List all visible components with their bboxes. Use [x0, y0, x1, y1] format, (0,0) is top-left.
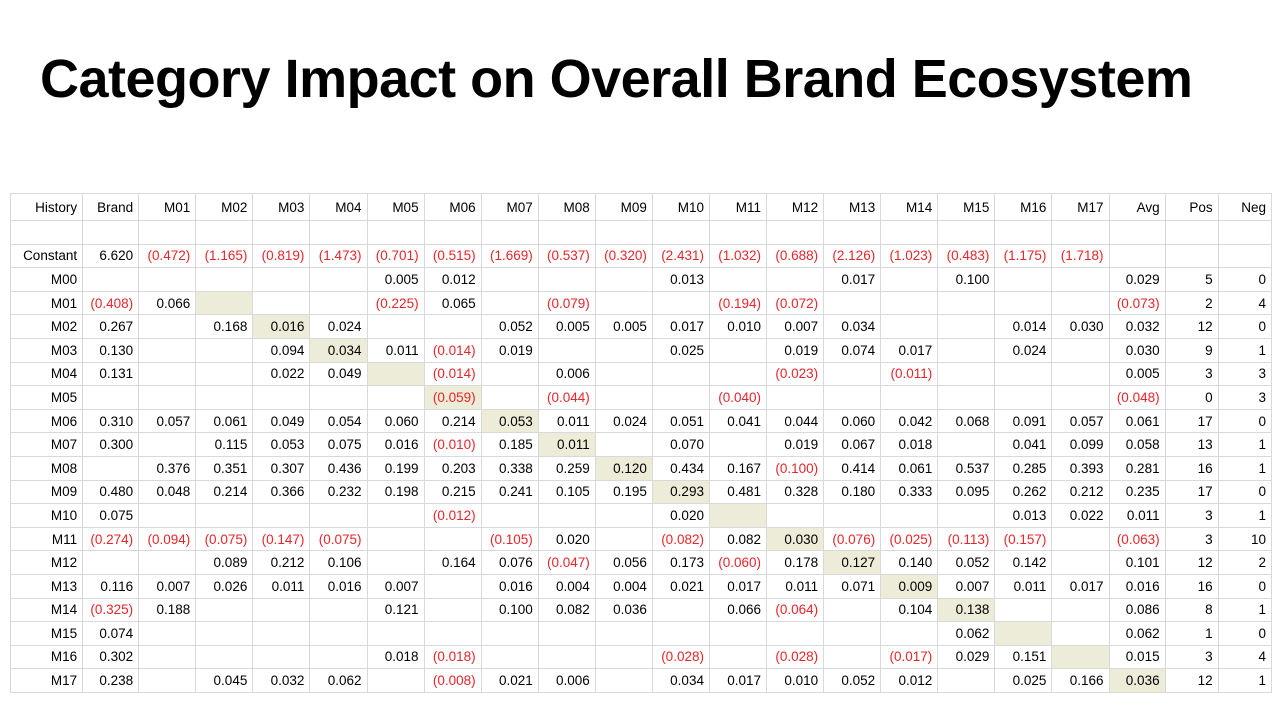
cell-m01-m05: (0.225)	[367, 291, 424, 315]
cell-m01-m14	[881, 291, 938, 315]
cell-m10-m07	[481, 504, 538, 528]
cell-m10-m15	[938, 504, 995, 528]
cell-m10-avg: 0.011	[1109, 504, 1165, 528]
table-row: M01(0.408)0.066 (0.225)0.065 (0.079) (0.…	[11, 291, 1272, 315]
row-label-m13: M13	[11, 574, 83, 598]
cell-m11-m04: (0.075)	[310, 527, 367, 551]
cell-m11-pos: 3	[1165, 527, 1218, 551]
cell-m12-brand	[83, 551, 139, 575]
cell-m11-m02: (0.075)	[196, 527, 253, 551]
cell-constant-m12: (0.688)	[767, 244, 824, 268]
column-header-m13: M13	[824, 194, 881, 221]
cell-m04-m04: 0.049	[310, 362, 367, 386]
cell-m02-m17: 0.030	[1052, 315, 1109, 339]
cell-m09-m04: 0.232	[310, 480, 367, 504]
cell-m00-m05: 0.005	[367, 268, 424, 292]
cell-m03-brand: 0.130	[83, 338, 139, 362]
cell-m04-m10	[652, 362, 709, 386]
cell-constant-m14: (1.023)	[881, 244, 938, 268]
cell-m17-m11: 0.017	[709, 669, 766, 693]
cell-m10-m10: 0.020	[652, 504, 709, 528]
cell-m02-m11: 0.010	[709, 315, 766, 339]
cell-m02-m06	[424, 315, 481, 339]
column-header-m11: M11	[709, 194, 766, 221]
table-row: M040.131 0.0220.049 (0.014) 0.006 (0.023…	[11, 362, 1272, 386]
cell-m16-m12: (0.028)	[767, 645, 824, 669]
cell-m17-m08: 0.006	[538, 669, 595, 693]
cell-m07-m10: 0.070	[652, 433, 709, 457]
cell-m06-m10: 0.051	[652, 409, 709, 433]
cell-m11-m01: (0.094)	[139, 527, 196, 551]
column-header-m12: M12	[767, 194, 824, 221]
cell-m10-m13	[824, 504, 881, 528]
table-row: M12 0.0890.2120.106 0.1640.076(0.047)0.0…	[11, 551, 1272, 575]
row-label-m01: M01	[11, 291, 83, 315]
cell-m12-m16: 0.142	[995, 551, 1052, 575]
cell-m10-m02	[196, 504, 253, 528]
cell-m11-m15: (0.113)	[938, 527, 995, 551]
table-row: Constant6.620(0.472)(1.165)(0.819)(1.473…	[11, 244, 1272, 268]
column-header-m08: M08	[538, 194, 595, 221]
matrix-table-container: HistoryBrandM01M02M03M04M05M06M07M08M09M…	[10, 193, 1272, 693]
cell-m08-m16: 0.285	[995, 456, 1052, 480]
column-header-m09: M09	[595, 194, 652, 221]
cell-m06-m02: 0.061	[196, 409, 253, 433]
row-label-m07: M07	[11, 433, 83, 457]
cell-constant-m13: (2.126)	[824, 244, 881, 268]
cell-m08-m04: 0.436	[310, 456, 367, 480]
cell-constant-m06: (0.515)	[424, 244, 481, 268]
cell-m12-m07: 0.076	[481, 551, 538, 575]
cell-m11-m11: 0.082	[709, 527, 766, 551]
cell-m02-brand: 0.267	[83, 315, 139, 339]
cell-m12-m11: (0.060)	[709, 551, 766, 575]
cell-m17-m01	[139, 669, 196, 693]
cell-m07-m11	[709, 433, 766, 457]
cell-m11-m07: (0.105)	[481, 527, 538, 551]
cell-m11-brand: (0.274)	[83, 527, 139, 551]
cell-m13-m14: 0.009	[881, 574, 938, 598]
cell-m08-m10: 0.434	[652, 456, 709, 480]
row-label-m10: M10	[11, 504, 83, 528]
cell-m12-m05	[367, 551, 424, 575]
cell-m15-avg: 0.062	[1109, 622, 1165, 646]
table-spacer-row	[11, 221, 1272, 245]
cell-m05-m14	[881, 386, 938, 410]
slide-canvas: Category Impact on Overall Brand Ecosyst…	[0, 0, 1280, 720]
cell-m09-avg: 0.235	[1109, 480, 1165, 504]
cell-m07-pos: 13	[1165, 433, 1218, 457]
cell-m03-m16: 0.024	[995, 338, 1052, 362]
column-header-m15: M15	[938, 194, 995, 221]
cell-m07-m13: 0.067	[824, 433, 881, 457]
spacer-cell	[824, 221, 881, 245]
cell-m10-m09	[595, 504, 652, 528]
cell-m00-m08	[538, 268, 595, 292]
cell-m07-m05: 0.016	[367, 433, 424, 457]
cell-m08-m14: 0.061	[881, 456, 938, 480]
cell-m16-m06: (0.018)	[424, 645, 481, 669]
cell-m08-neg: 1	[1218, 456, 1271, 480]
cell-m12-m01	[139, 551, 196, 575]
cell-m14-m17	[1052, 598, 1109, 622]
table-row: M14(0.325)0.188 0.121 0.1000.0820.036 0.…	[11, 598, 1272, 622]
cell-m07-m01	[139, 433, 196, 457]
cell-m13-avg: 0.016	[1109, 574, 1165, 598]
cell-m05-m12	[767, 386, 824, 410]
cell-m02-m05	[367, 315, 424, 339]
cell-m07-neg: 1	[1218, 433, 1271, 457]
cell-m12-m14: 0.140	[881, 551, 938, 575]
cell-m09-m17: 0.212	[1052, 480, 1109, 504]
table-row: M030.130 0.0940.0340.011(0.014)0.019 0.0…	[11, 338, 1272, 362]
cell-m17-m15	[938, 669, 995, 693]
cell-m02-m14	[881, 315, 938, 339]
cell-constant-m08: (0.537)	[538, 244, 595, 268]
cell-m00-m15: 0.100	[938, 268, 995, 292]
cell-m01-m16	[995, 291, 1052, 315]
cell-m16-brand: 0.302	[83, 645, 139, 669]
cell-m03-avg: 0.030	[1109, 338, 1165, 362]
cell-m05-m15	[938, 386, 995, 410]
row-label-constant: Constant	[11, 244, 83, 268]
cell-m10-pos: 3	[1165, 504, 1218, 528]
cell-m00-m16	[995, 268, 1052, 292]
cell-constant-m09: (0.320)	[595, 244, 652, 268]
cell-m12-m02: 0.089	[196, 551, 253, 575]
cell-m12-m15: 0.052	[938, 551, 995, 575]
cell-m04-m17	[1052, 362, 1109, 386]
cell-m10-m08	[538, 504, 595, 528]
cell-constant-m16: (1.175)	[995, 244, 1052, 268]
cell-constant-m04: (1.473)	[310, 244, 367, 268]
cell-m00-m17	[1052, 268, 1109, 292]
cell-constant-m15: (0.483)	[938, 244, 995, 268]
cell-m12-m17	[1052, 551, 1109, 575]
cell-m03-neg: 1	[1218, 338, 1271, 362]
cell-m07-m07: 0.185	[481, 433, 538, 457]
cell-m14-m09: 0.036	[595, 598, 652, 622]
cell-m07-m03: 0.053	[253, 433, 310, 457]
table-row: M060.3100.0570.0610.0490.0540.0600.2140.…	[11, 409, 1272, 433]
cell-m06-m09: 0.024	[595, 409, 652, 433]
row-label-m03: M03	[11, 338, 83, 362]
column-header-m04: M04	[310, 194, 367, 221]
cell-m07-m16: 0.041	[995, 433, 1052, 457]
cell-m15-m10	[652, 622, 709, 646]
row-label-m02: M02	[11, 315, 83, 339]
cell-m04-brand: 0.131	[83, 362, 139, 386]
table-row: M160.302 0.018(0.018) (0.028) (0.028) (0…	[11, 645, 1272, 669]
cell-m10-m12	[767, 504, 824, 528]
cell-m04-m12: (0.023)	[767, 362, 824, 386]
cell-constant-brand: 6.620	[83, 244, 139, 268]
cell-m06-m05: 0.060	[367, 409, 424, 433]
column-header-m17: M17	[1052, 194, 1109, 221]
cell-m08-m08: 0.259	[538, 456, 595, 480]
cell-m04-m16	[995, 362, 1052, 386]
cell-m11-m09	[595, 527, 652, 551]
row-label-m06: M06	[11, 409, 83, 433]
cell-m17-m14: 0.012	[881, 669, 938, 693]
spacer-cell	[1052, 221, 1109, 245]
cell-m14-m11: 0.066	[709, 598, 766, 622]
cell-constant-m10: (2.431)	[652, 244, 709, 268]
cell-m16-neg: 4	[1218, 645, 1271, 669]
cell-m15-m01	[139, 622, 196, 646]
cell-m16-m09	[595, 645, 652, 669]
cell-m07-m09	[595, 433, 652, 457]
cell-m13-m02: 0.026	[196, 574, 253, 598]
cell-m04-m03: 0.022	[253, 362, 310, 386]
cell-m13-m12: 0.011	[767, 574, 824, 598]
cell-m05-neg: 3	[1218, 386, 1271, 410]
cell-m04-m09	[595, 362, 652, 386]
cell-m15-m03	[253, 622, 310, 646]
cell-constant-m07: (1.669)	[481, 244, 538, 268]
cell-m12-m03: 0.212	[253, 551, 310, 575]
cell-m00-brand	[83, 268, 139, 292]
spacer-cell	[196, 221, 253, 245]
cell-m15-m11	[709, 622, 766, 646]
cell-m13-m16: 0.011	[995, 574, 1052, 598]
cell-m04-m01	[139, 362, 196, 386]
cell-m14-neg: 1	[1218, 598, 1271, 622]
cell-m07-m12: 0.019	[767, 433, 824, 457]
spacer-cell	[709, 221, 766, 245]
cell-m00-neg: 0	[1218, 268, 1271, 292]
cell-m14-m10	[652, 598, 709, 622]
cell-m16-avg: 0.015	[1109, 645, 1165, 669]
cell-m09-neg: 0	[1218, 480, 1271, 504]
cell-m14-m16	[995, 598, 1052, 622]
cell-m12-m04: 0.106	[310, 551, 367, 575]
cell-m05-m05	[367, 386, 424, 410]
cell-m16-m04	[310, 645, 367, 669]
cell-m16-pos: 3	[1165, 645, 1218, 669]
cell-m09-m08: 0.105	[538, 480, 595, 504]
cell-m05-pos: 0	[1165, 386, 1218, 410]
cell-m05-m04	[310, 386, 367, 410]
cell-m01-m04	[310, 291, 367, 315]
row-label-m11: M11	[11, 527, 83, 551]
cell-m02-m01	[139, 315, 196, 339]
cell-m14-m12: (0.064)	[767, 598, 824, 622]
cell-m02-avg: 0.032	[1109, 315, 1165, 339]
cell-m02-m12: 0.007	[767, 315, 824, 339]
cell-m01-avg: (0.073)	[1109, 291, 1165, 315]
cell-m00-m02	[196, 268, 253, 292]
cell-m06-m07: 0.053	[481, 409, 538, 433]
cell-m09-m05: 0.198	[367, 480, 424, 504]
cell-m12-pos: 12	[1165, 551, 1218, 575]
column-header-m05: M05	[367, 194, 424, 221]
cell-m16-m10: (0.028)	[652, 645, 709, 669]
cell-m06-brand: 0.310	[83, 409, 139, 433]
cell-m01-m13	[824, 291, 881, 315]
cell-m10-m05	[367, 504, 424, 528]
cell-m00-m03	[253, 268, 310, 292]
cell-m04-m08: 0.006	[538, 362, 595, 386]
cell-m09-pos: 17	[1165, 480, 1218, 504]
column-header-m03: M03	[253, 194, 310, 221]
cell-m16-m17	[1052, 645, 1109, 669]
cell-m15-m06	[424, 622, 481, 646]
cell-m03-m01	[139, 338, 196, 362]
cell-m13-m11: 0.017	[709, 574, 766, 598]
cell-m09-m01: 0.048	[139, 480, 196, 504]
cell-m08-m07: 0.338	[481, 456, 538, 480]
cell-m15-brand: 0.074	[83, 622, 139, 646]
cell-constant-avg	[1109, 244, 1165, 268]
cell-m14-avg: 0.086	[1109, 598, 1165, 622]
cell-m14-m13	[824, 598, 881, 622]
cell-m11-m06	[424, 527, 481, 551]
cell-m10-brand: 0.075	[83, 504, 139, 528]
row-label-m17: M17	[11, 669, 83, 693]
cell-constant-m01: (0.472)	[139, 244, 196, 268]
cell-m13-brand: 0.116	[83, 574, 139, 598]
cell-m06-m06: 0.214	[424, 409, 481, 433]
table-header-row: HistoryBrandM01M02M03M04M05M06M07M08M09M…	[11, 194, 1272, 221]
cell-m12-m09: 0.056	[595, 551, 652, 575]
cell-m08-avg: 0.281	[1109, 456, 1165, 480]
cell-m11-m13: (0.076)	[824, 527, 881, 551]
cell-m17-brand: 0.238	[83, 669, 139, 693]
cell-m04-m05	[367, 362, 424, 386]
cell-constant-pos	[1165, 244, 1218, 268]
cell-m13-neg: 0	[1218, 574, 1271, 598]
cell-m01-pos: 2	[1165, 291, 1218, 315]
cell-m16-m14: (0.017)	[881, 645, 938, 669]
row-label-m09: M09	[11, 480, 83, 504]
row-label-m14: M14	[11, 598, 83, 622]
row-label-m16: M16	[11, 645, 83, 669]
cell-m03-m10: 0.025	[652, 338, 709, 362]
cell-m02-m08: 0.005	[538, 315, 595, 339]
cell-m09-m12: 0.328	[767, 480, 824, 504]
cell-m02-pos: 12	[1165, 315, 1218, 339]
cell-m12-neg: 2	[1218, 551, 1271, 575]
cell-m05-m06: (0.059)	[424, 386, 481, 410]
cell-m14-m04	[310, 598, 367, 622]
cell-m05-m11: (0.040)	[709, 386, 766, 410]
spacer-cell	[652, 221, 709, 245]
table-row: M08 0.3760.3510.3070.4360.1990.2030.3380…	[11, 456, 1272, 480]
cell-m06-avg: 0.061	[1109, 409, 1165, 433]
table-row: M150.074 0.062 0.06210	[11, 622, 1272, 646]
cell-constant-m03: (0.819)	[253, 244, 310, 268]
spacer-cell	[253, 221, 310, 245]
cell-m07-brand: 0.300	[83, 433, 139, 457]
cell-m14-brand: (0.325)	[83, 598, 139, 622]
cell-m06-m01: 0.057	[139, 409, 196, 433]
table-row: M020.267 0.1680.0160.024 0.0520.0050.005…	[11, 315, 1272, 339]
cell-m17-m06: (0.008)	[424, 669, 481, 693]
cell-m15-m17	[1052, 622, 1109, 646]
cell-m16-m16: 0.151	[995, 645, 1052, 669]
cell-m01-brand: (0.408)	[83, 291, 139, 315]
cell-m10-m04	[310, 504, 367, 528]
cell-m05-avg: (0.048)	[1109, 386, 1165, 410]
cell-m03-m08	[538, 338, 595, 362]
cell-m13-m06	[424, 574, 481, 598]
cell-m09-m15: 0.095	[938, 480, 995, 504]
cell-m06-m14: 0.042	[881, 409, 938, 433]
cell-m08-m12: (0.100)	[767, 456, 824, 480]
cell-m11-m16: (0.157)	[995, 527, 1052, 551]
cell-m15-m12	[767, 622, 824, 646]
cell-m06-m13: 0.060	[824, 409, 881, 433]
column-header-pos: Pos	[1165, 194, 1218, 221]
cell-m07-m14: 0.018	[881, 433, 938, 457]
cell-m16-m02	[196, 645, 253, 669]
cell-m00-m11	[709, 268, 766, 292]
cell-m07-m08: 0.011	[538, 433, 595, 457]
cell-m10-m17: 0.022	[1052, 504, 1109, 528]
cell-m04-m11	[709, 362, 766, 386]
cell-m09-m16: 0.262	[995, 480, 1052, 504]
cell-m00-m14	[881, 268, 938, 292]
cell-m15-m04	[310, 622, 367, 646]
table-row: M00 0.0050.012 0.013 0.017 0.100 0.02950	[11, 268, 1272, 292]
cell-m03-m13: 0.074	[824, 338, 881, 362]
cell-m01-m01: 0.066	[139, 291, 196, 315]
cell-m01-m02	[196, 291, 253, 315]
cell-m04-m13	[824, 362, 881, 386]
cell-m11-m10: (0.082)	[652, 527, 709, 551]
column-header-history: History	[11, 194, 83, 221]
cell-m02-m10: 0.017	[652, 315, 709, 339]
cell-m09-m03: 0.366	[253, 480, 310, 504]
cell-m16-m15: 0.029	[938, 645, 995, 669]
cell-m00-m04	[310, 268, 367, 292]
cell-m10-m03	[253, 504, 310, 528]
cell-m01-neg: 4	[1218, 291, 1271, 315]
cell-m06-m17: 0.057	[1052, 409, 1109, 433]
cell-m17-avg: 0.036	[1109, 669, 1165, 693]
table-header: HistoryBrandM01M02M03M04M05M06M07M08M09M…	[11, 194, 1272, 221]
cell-m12-m10: 0.173	[652, 551, 709, 575]
table-body: Constant6.620(0.472)(1.165)(0.819)(1.473…	[11, 221, 1272, 693]
cell-m17-m07: 0.021	[481, 669, 538, 693]
column-header-m02: M02	[196, 194, 253, 221]
cell-m01-m07	[481, 291, 538, 315]
cell-m06-m15: 0.068	[938, 409, 995, 433]
spacer-cell	[1218, 221, 1271, 245]
cell-m01-m06: 0.065	[424, 291, 481, 315]
cell-m12-m13: 0.127	[824, 551, 881, 575]
cell-m10-m06: (0.012)	[424, 504, 481, 528]
cell-m17-m10: 0.034	[652, 669, 709, 693]
cell-m08-m09: 0.120	[595, 456, 652, 480]
cell-m15-m09	[595, 622, 652, 646]
cell-m02-m07: 0.052	[481, 315, 538, 339]
cell-m03-m06: (0.014)	[424, 338, 481, 362]
row-label-m05: M05	[11, 386, 83, 410]
cell-m13-m04: 0.016	[310, 574, 367, 598]
cell-m05-m16	[995, 386, 1052, 410]
cell-constant-m11: (1.032)	[709, 244, 766, 268]
cell-m17-m12: 0.010	[767, 669, 824, 693]
cell-m15-m16	[995, 622, 1052, 646]
spacer-cell	[481, 221, 538, 245]
cell-m17-m13: 0.052	[824, 669, 881, 693]
cell-m14-pos: 8	[1165, 598, 1218, 622]
cell-m15-m15: 0.062	[938, 622, 995, 646]
cell-m02-m04: 0.024	[310, 315, 367, 339]
spacer-cell	[595, 221, 652, 245]
